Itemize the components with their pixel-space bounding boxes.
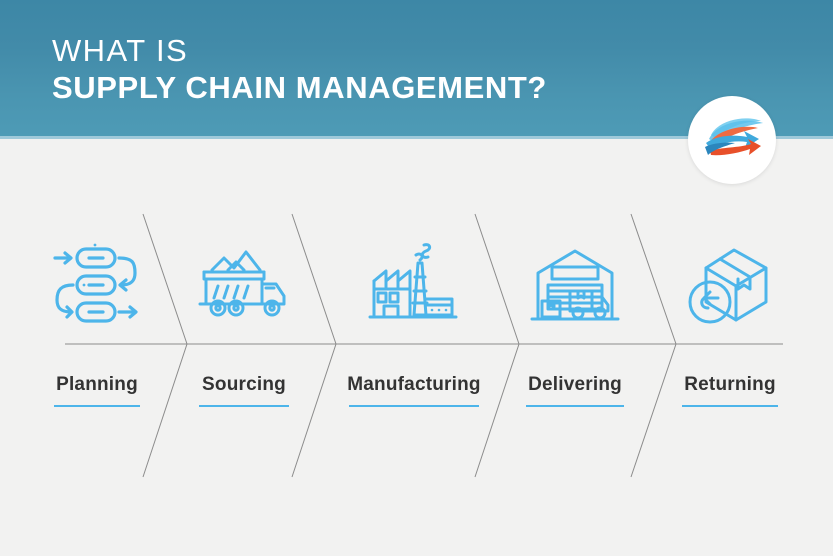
chevron-separator-lines bbox=[0, 136, 833, 556]
factory-icon bbox=[359, 236, 469, 336]
warehouse-truck-icon bbox=[520, 236, 630, 336]
infographic-canvas: WHAT IS SUPPLY CHAIN MANAGEMENT? bbox=[0, 0, 833, 556]
stage-underline-delivering bbox=[526, 405, 624, 407]
stage-label-sourcing: Sourcing bbox=[164, 374, 324, 396]
page-title-line-1: WHAT IS bbox=[52, 33, 547, 69]
return-box-icon bbox=[675, 236, 785, 336]
stage-label-returning: Returning bbox=[650, 374, 810, 396]
page-title-line-2: SUPPLY CHAIN MANAGEMENT? bbox=[52, 69, 547, 107]
stage-underline-sourcing bbox=[199, 405, 289, 407]
stage-label-manufacturing: Manufacturing bbox=[334, 374, 494, 396]
stage-underline-planning bbox=[54, 405, 140, 407]
dump-truck-icon bbox=[189, 236, 299, 336]
stage-underline-returning bbox=[682, 405, 778, 407]
chevron-divider-3 bbox=[475, 214, 519, 477]
process-flow-diagram: Planning bbox=[0, 136, 833, 556]
chevron-divider-4 bbox=[631, 214, 676, 477]
stage-label-planning: Planning bbox=[17, 374, 177, 396]
process-flow-icon bbox=[42, 236, 152, 336]
stage-label-delivering: Delivering bbox=[495, 374, 655, 396]
header-title-block: WHAT IS SUPPLY CHAIN MANAGEMENT? bbox=[52, 33, 547, 107]
stage-underline-manufacturing bbox=[349, 405, 479, 407]
